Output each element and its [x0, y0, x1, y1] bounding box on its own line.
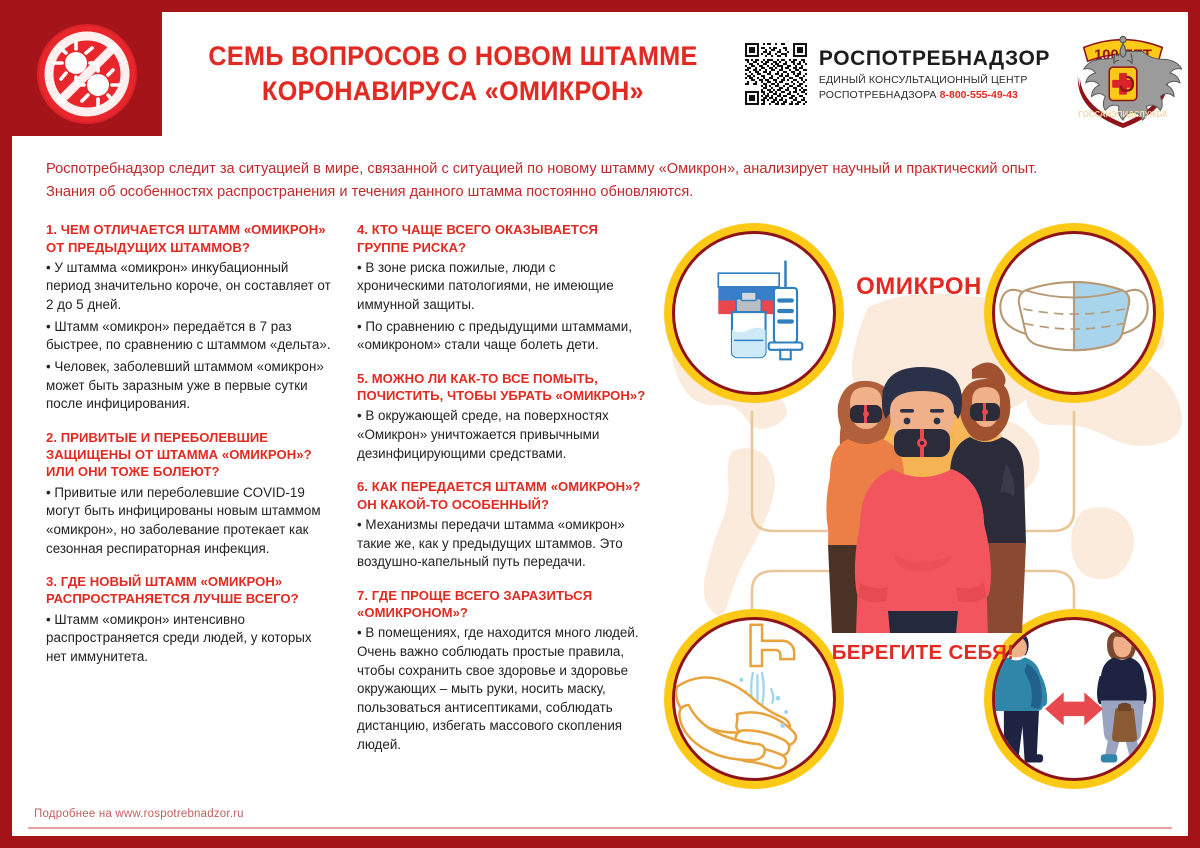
illustration-cluster: ОМИКРОН БЕРЕГИТЕ СЕБЯ! [624, 211, 1188, 835]
rospotrebnadzor-emblem-icon: 100 ЛЕТ [1064, 18, 1182, 130]
handwash-circle [664, 609, 844, 789]
intro-paragraph: Роспотребнадзор следит за ситуацией в ми… [12, 136, 1188, 211]
question-block-3: 3. ГДЕ НОВЫЙ ШТАММ «ОМИКРОН» РАСПРОСТРАН… [46, 573, 335, 666]
question-heading: 1. ЧЕМ ОТЛИЧАЕТСЯ ШТАММ «ОМИКРОН» ОТ ПРЕ… [46, 221, 335, 256]
question-block-5: 5. МОЖНО ЛИ КАК-ТО ВСЕ ПОМЫТЬ, ПОЧИСТИТЬ… [357, 370, 646, 463]
question-heading: 6. КАК ПЕРЕДАЕТСЯ ШТАММ «ОМИКРОН»? ОН КА… [357, 478, 646, 513]
hotline-phone[interactable]: 8-800-555-49-43 [940, 89, 1018, 101]
title-line-1: СЕМЬ ВОПРОСОВ О НОВОМ ШТАММЕ [209, 39, 698, 74]
poster-root: СЕМЬ ВОПРОСОВ О НОВОМ ШТАММЕ КОРОНАВИРУС… [0, 0, 1200, 848]
distance-circle [984, 609, 1164, 789]
brand-block: РОСПОТРЕБНАДЗОР ЕДИНЫЙ КОНСУЛЬТАЦИОННЫЙ … [745, 12, 1188, 136]
title-line-2: КОРОНАВИРУСА «ОМИКРОН» [209, 74, 698, 109]
question-bullet: • В помещениях, где находится много люде… [357, 624, 646, 754]
intro-line-1: Роспотребнадзор следит за ситуацией в ми… [46, 158, 1154, 181]
people-wearing-masks-icon [820, 343, 1028, 633]
emblem-service-text: ГОССАНЭПИДСЛУЖБА [1078, 110, 1168, 119]
question-block-7: 7. ГДЕ ПРОЩЕ ВСЕГО ЗАРАЗИТЬСЯ «ОМИКРОНОМ… [357, 587, 646, 755]
question-heading: 7. ГДЕ ПРОЩЕ ВСЕГО ЗАРАЗИТЬСЯ «ОМИКРОНОМ… [357, 587, 646, 622]
no-virus-badge [12, 12, 162, 136]
question-bullet: • Привитые или переболевшие COVID-19 мог… [46, 484, 335, 559]
question-block-2: 2. ПРИВИТЫЕ И ПЕРЕБОЛЕВШИЕ ЗАЩИЩЕНЫ ОТ Ш… [46, 429, 335, 558]
brand-text-block: РОСПОТРЕБНАДЗОР ЕДИНЫЙ КОНСУЛЬТАЦИОННЫЙ … [819, 47, 1050, 101]
question-block-6: 6. КАК ПЕРЕДАЕТСЯ ШТАММ «ОМИКРОН»? ОН КА… [357, 478, 646, 571]
question-bullet: • Человек, заболевший штаммом «омикрон» … [46, 358, 335, 414]
no-virus-icon [37, 24, 137, 124]
washing-hands-icon [672, 617, 836, 781]
question-bullet: • В окружающей среде, на поверхностях «О… [357, 407, 646, 463]
vaccine-vial-syringe-icon [691, 248, 817, 379]
brand-subtitle-line-1: ЕДИНЫЙ КОНСУЛЬТАЦИОННЫЙ ЦЕНТР [819, 74, 1050, 86]
poster-header: СЕМЬ ВОПРОСОВ О НОВОМ ШТАММЕ КОРОНАВИРУС… [12, 12, 1188, 136]
question-block-1: 1. ЧЕМ ОТЛИЧАЕТСЯ ШТАММ «ОМИКРОН» ОТ ПРЕ… [46, 221, 335, 414]
question-bullet: • По сравнению с предыдущими штаммами, «… [357, 318, 646, 355]
question-bullet: • Штамм «омикрон» интенсивно распростран… [46, 611, 335, 667]
question-heading: 4. КТО ЧАЩЕ ВСЕГО ОКАЗЫВАЕТСЯ ГРУППЕ РИС… [357, 221, 646, 256]
omikron-label: ОМИКРОН [834, 273, 1004, 301]
intro-line-2: Знания об особенностях распространения и… [46, 181, 1154, 204]
question-heading: 5. МОЖНО ЛИ КАК-ТО ВСЕ ПОМЫТЬ, ПОЧИСТИТЬ… [357, 370, 646, 405]
question-heading: 3. ГДЕ НОВЫЙ ШТАММ «ОМИКРОН» РАСПРОСТРАН… [46, 573, 335, 608]
poster-sheet: СЕМЬ ВОПРОСОВ О НОВОМ ШТАММЕ КОРОНАВИРУС… [12, 12, 1188, 836]
question-bullet: • В зоне риска пожилые, люди с хроническ… [357, 259, 646, 315]
brand-subtitle-text: РОСПОТРЕБНАДЗОРА [819, 89, 937, 101]
vaccine-circle [664, 223, 844, 403]
poster-body: 1. ЧЕМ ОТЛИЧАЕТСЯ ШТАММ «ОМИКРОН» ОТ ПРЕ… [12, 211, 1188, 835]
questions-columns: 1. ЧЕМ ОТЛИЧАЕТСЯ ШТАММ «ОМИКРОН» ОТ ПРЕ… [46, 221, 646, 770]
footer-link[interactable]: Подробнее на www.rospotrebnadzor.ru [12, 808, 244, 820]
beregite-sebya-label: БЕРЕГИТЕ СЕБЯ! [818, 641, 1028, 665]
distance-arrow-icon [1045, 693, 1103, 726]
questions-column-right: 4. КТО ЧАЩЕ ВСЕГО ОКАЗЫВАЕТСЯ ГРУППЕ РИС… [357, 221, 646, 770]
qr-code-icon[interactable] [745, 43, 807, 105]
brand-name: РОСПОТРЕБНАДЗОР [819, 47, 1050, 71]
question-block-4: 4. КТО ЧАЩЕ ВСЕГО ОКАЗЫВАЕТСЯ ГРУППЕ РИС… [357, 221, 646, 355]
questions-column-left: 1. ЧЕМ ОТЛИЧАЕТСЯ ШТАММ «ОМИКРОН» ОТ ПРЕ… [46, 221, 335, 770]
question-bullet: • У штамма «омикрон» инкубационный перио… [46, 259, 335, 315]
brand-subtitle-line-2: РОСПОТРЕБНАДЗОРА 8-800-555-49-43 [819, 89, 1050, 101]
question-bullet: • Механизмы передачи штамма «омикрон» та… [357, 516, 646, 572]
person-right-figure [1097, 626, 1147, 762]
question-bullet: • Штамм «омикрон» передаётся в 7 раз быс… [46, 318, 335, 355]
poster-title: СЕМЬ ВОПРОСОВ О НОВОМ ШТАММЕ КОРОНАВИРУС… [162, 12, 745, 136]
question-heading: 2. ПРИВИТЫЕ И ПЕРЕБОЛЕВШИЕ ЗАЩИЩЕНЫ ОТ Ш… [46, 429, 335, 481]
